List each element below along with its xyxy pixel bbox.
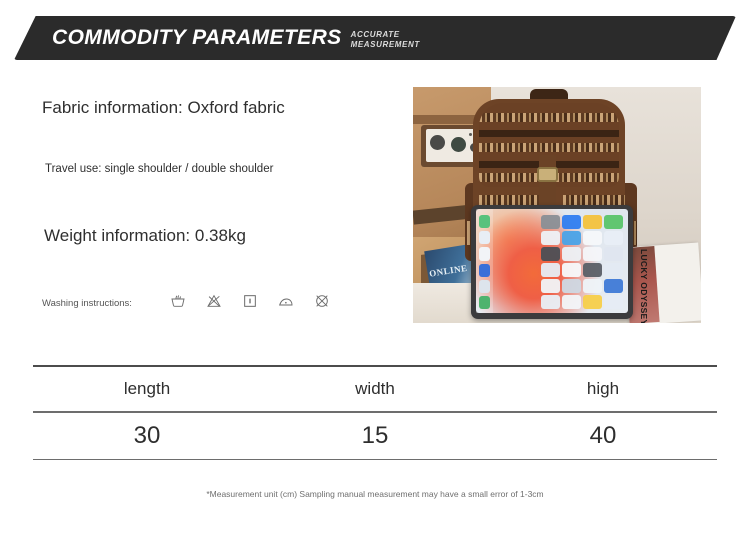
photo-pattern-band xyxy=(479,113,619,122)
washing-instructions-row: Washing instructions: xyxy=(42,293,330,314)
table-value-row: 30 15 40 xyxy=(33,413,717,459)
hand-wash-icon xyxy=(170,293,186,314)
washing-instructions-label: Washing instructions: xyxy=(42,298,132,309)
photo-radio-knob xyxy=(451,137,466,152)
spec-travel-use: Travel use: single shoulder / double sho… xyxy=(45,163,273,175)
photo-pattern-band xyxy=(479,143,619,152)
photo-radio-knob xyxy=(430,135,445,150)
spec-weight-information: Weight information: 0.38kg xyxy=(44,226,246,246)
do-not-dry-clean-icon xyxy=(314,293,330,314)
tumble-dry-icon xyxy=(242,293,258,314)
photo-book-title: LUCKY ODYSSEY TO THE GOD SHOT xyxy=(638,249,649,323)
washing-symbols-group xyxy=(170,293,330,314)
page-header-banner: COMMODITY PARAMETERS ACCURATE MEASUREMEN… xyxy=(0,16,750,60)
iron-low-icon xyxy=(278,293,294,314)
photo-tablet-app-icons xyxy=(497,213,625,311)
measurement-footnote: *Measurement unit (cm) Sampling manual m… xyxy=(0,489,750,499)
product-photo: ONLINE LUCKY ODYSSEY TO THE GOD SHOT xyxy=(413,87,701,323)
photo-tablet-dock-icons xyxy=(477,213,492,311)
dimension-table: length width high 30 15 40 xyxy=(33,365,717,460)
photo-radio-dot xyxy=(469,133,472,136)
table-header-width: width xyxy=(261,379,489,399)
banner-subtitle: ACCURATE MEASUREMENT xyxy=(351,27,420,50)
table-header-length: length xyxy=(33,379,261,399)
table-header-high: high xyxy=(489,379,717,399)
table-header-row: length width high xyxy=(33,367,717,411)
spec-fabric-information: Fabric information: Oxford fabric xyxy=(42,98,285,118)
do-not-bleach-icon xyxy=(206,293,222,314)
table-value-high: 40 xyxy=(489,422,717,450)
table-value-width: 15 xyxy=(261,422,489,450)
banner-content: COMMODITY PARAMETERS ACCURATE MEASUREMEN… xyxy=(0,16,750,60)
table-value-length: 30 xyxy=(33,422,261,450)
table-rule-bottom xyxy=(33,459,717,461)
page-title: COMMODITY PARAMETERS xyxy=(52,26,342,50)
photo-backpack-buckle xyxy=(537,167,558,182)
banner-subtitle-line1: ACCURATE xyxy=(351,30,420,40)
banner-subtitle-line2: MEASUREMENT xyxy=(351,40,420,50)
photo-pattern-band xyxy=(479,130,619,137)
